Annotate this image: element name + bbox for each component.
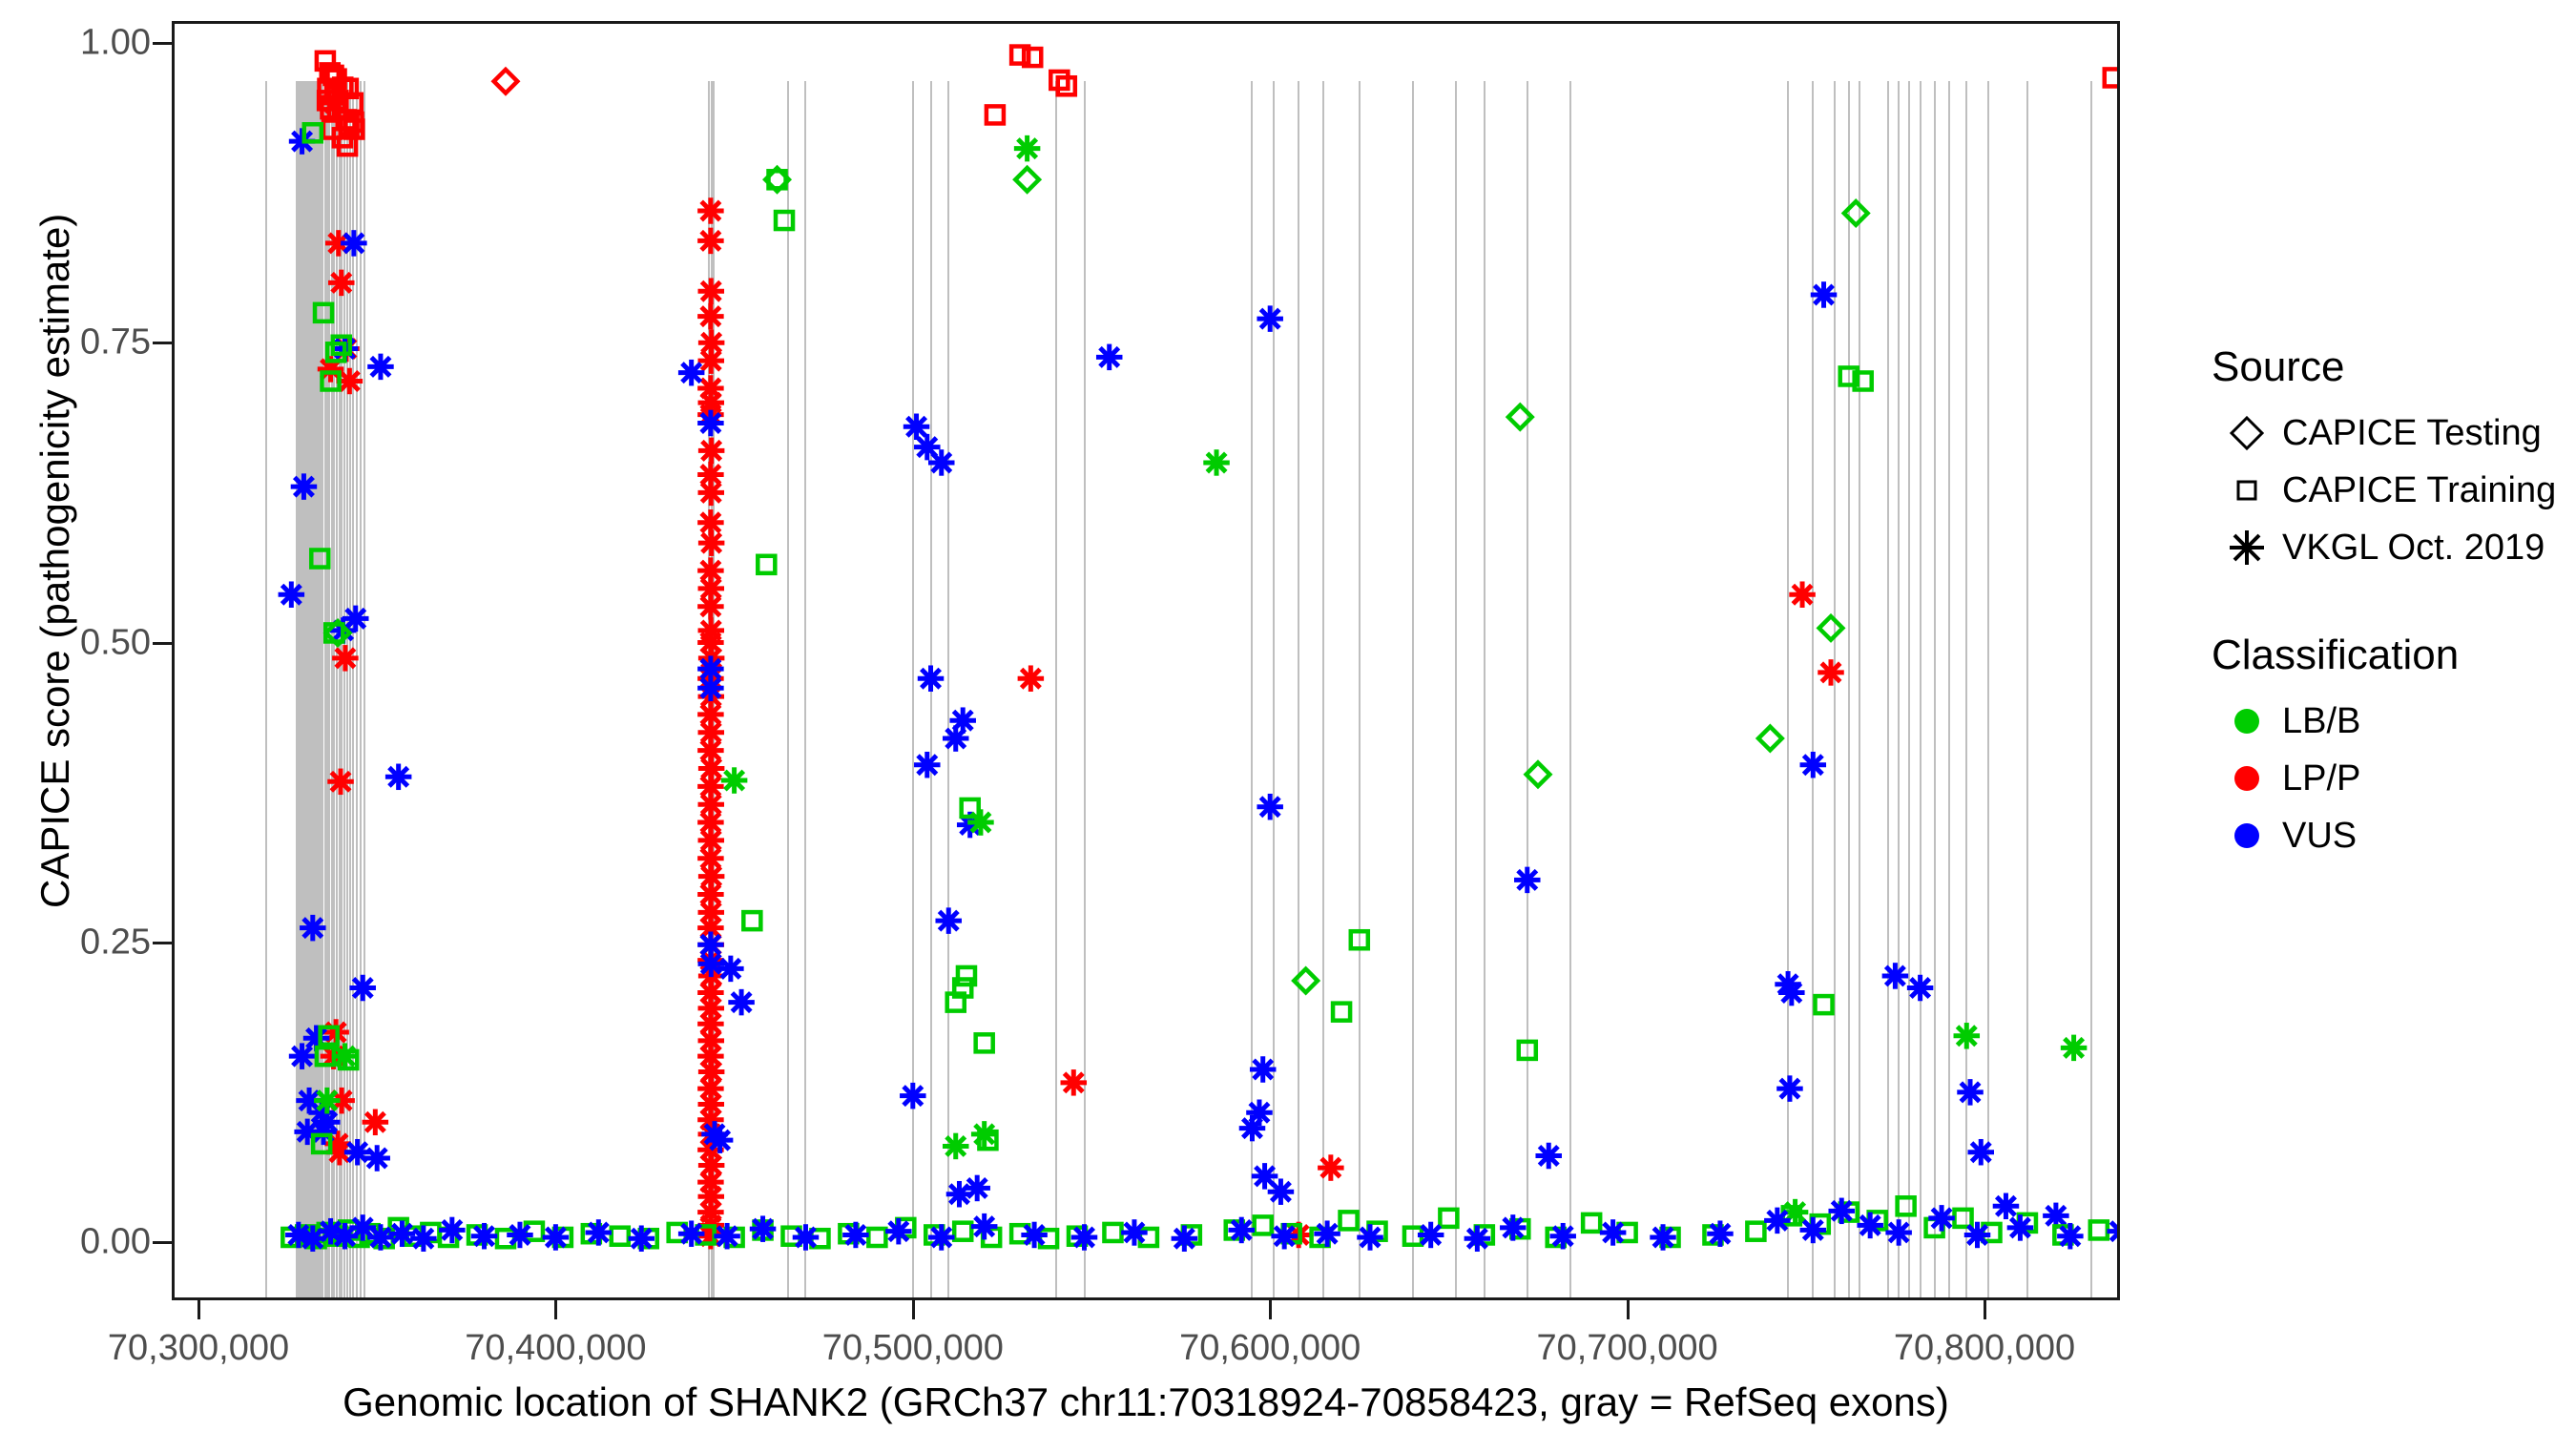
data-point [697, 197, 724, 224]
legend-item-label: CAPICE Testing [2282, 413, 2542, 454]
data-point [1071, 1224, 1098, 1251]
data-point [1096, 344, 1123, 371]
data-point [1351, 931, 1368, 948]
color-dot-icon [2234, 766, 2259, 791]
y-tick-mark [153, 942, 172, 944]
series-LB-B-square [304, 124, 2117, 1175]
data-point [322, 90, 348, 116]
data-point [1104, 1224, 1121, 1241]
data-point [885, 1218, 912, 1245]
data-point [1121, 1219, 1148, 1246]
legend-spacer [2212, 576, 2555, 632]
data-point [1333, 1004, 1350, 1021]
data-point [697, 228, 724, 255]
data-point [327, 769, 354, 796]
square-icon [2226, 469, 2268, 511]
x-tick-label: 70,600,000 [1179, 1328, 1361, 1369]
data-point [507, 1222, 533, 1249]
data-point [1357, 1224, 1383, 1251]
data-point [1021, 1222, 1048, 1249]
data-point [714, 1223, 740, 1250]
data-point [300, 915, 326, 942]
y-tick-label: 1.00 [80, 23, 151, 64]
data-point [1271, 1223, 1298, 1250]
x-tick-label: 70,800,000 [1894, 1328, 2075, 1369]
x-tick-mark [1984, 1300, 1986, 1319]
data-point [1340, 1212, 1358, 1229]
data-point [678, 360, 705, 386]
data-point [1268, 1178, 1295, 1205]
data-point [935, 907, 962, 934]
legend-key [2212, 462, 2282, 519]
plot-panel [172, 21, 2120, 1300]
data-point [721, 767, 748, 794]
data-point [1535, 1143, 1562, 1170]
data-point [842, 1222, 869, 1249]
data-point [1061, 1069, 1088, 1096]
data-point [1789, 581, 1816, 608]
data-point [698, 438, 725, 465]
data-point [385, 764, 412, 791]
series-VUS-asterisk [279, 128, 2117, 1229]
y-tick-mark [153, 342, 172, 344]
data-point [363, 1110, 389, 1136]
legend-key [2212, 807, 2282, 864]
data-point [1778, 980, 1805, 1006]
data-point [1819, 616, 1843, 640]
x-tick-label: 70,500,000 [822, 1328, 1004, 1369]
legend-item-label: LB/B [2282, 701, 2360, 742]
y-axis-title: CAPICE score (pathogenicity estimate) [32, 298, 78, 908]
data-point [314, 1088, 341, 1114]
data-point [928, 1224, 955, 1251]
data-point [1514, 867, 1541, 894]
y-tick-mark [153, 642, 172, 645]
data-point [2057, 1223, 2084, 1250]
data-point [1650, 1224, 1676, 1251]
legend-item-source[interactable]: VKGL Oct. 2019 [2212, 519, 2555, 576]
data-point [328, 270, 355, 297]
data-point [294, 1119, 321, 1146]
data-point [678, 1220, 705, 1247]
data-point [2090, 1221, 2108, 1238]
data-point [1172, 1225, 1198, 1252]
diamond-icon [2226, 412, 2268, 454]
data-point [971, 1121, 997, 1148]
data-point [1818, 659, 1844, 686]
legend-item-classification[interactable]: VUS [2212, 807, 2555, 864]
data-point [1257, 794, 1283, 820]
data-point [976, 1034, 993, 1051]
data-point [1255, 1216, 1272, 1234]
data-point [1764, 1208, 1791, 1234]
data-point [1816, 996, 1833, 1013]
data-point [1250, 1056, 1277, 1083]
data-point [1955, 1210, 1972, 1227]
data-point [1954, 1023, 1981, 1049]
color-dot-icon [2234, 823, 2259, 848]
data-point [315, 304, 332, 321]
y-tick-mark [153, 42, 172, 45]
data-point [697, 675, 724, 702]
data-point [1857, 1213, 1883, 1239]
data-point [1928, 1205, 1955, 1232]
legend-item-classification[interactable]: LB/B [2212, 693, 2555, 750]
data-point [629, 1225, 655, 1252]
data-point [612, 1228, 629, 1245]
data-point [918, 665, 945, 692]
x-tick-mark [554, 1300, 557, 1319]
data-point [1314, 1220, 1340, 1247]
data-point [1776, 1075, 1803, 1102]
y-tick-mark [153, 1241, 172, 1244]
data-point [900, 1083, 926, 1110]
data-point [1549, 1223, 1576, 1250]
data-point [1500, 1214, 1527, 1241]
data-point [758, 556, 775, 573]
data-point [332, 645, 359, 672]
legend-item-source[interactable]: CAPICE Testing [2212, 404, 2555, 462]
capice-scatter-figure: 0.000.250.500.751.00 CAPICE score (patho… [0, 0, 2576, 1431]
data-point [364, 1145, 390, 1172]
data-point [697, 410, 724, 437]
data-point [2105, 69, 2117, 86]
x-tick-label: 70,700,000 [1537, 1328, 1718, 1369]
data-point [1707, 1220, 1734, 1247]
data-point [2061, 1035, 2088, 1062]
data-point [698, 529, 725, 556]
data-point [1600, 1219, 1627, 1246]
legend-item-classification[interactable]: LP/P [2212, 750, 2555, 807]
data-point [1811, 281, 1838, 308]
x-tick-mark [1269, 1300, 1272, 1319]
data-point [1898, 1197, 1915, 1214]
plot-area [175, 24, 2117, 1297]
legend-item-label: LP/P [2282, 758, 2360, 799]
y-tick-label: 0.00 [80, 1222, 151, 1263]
data-point [439, 1217, 466, 1244]
data-point [946, 1181, 973, 1208]
legend-item-label: VKGL Oct. 2019 [2282, 528, 2545, 569]
data-point [698, 278, 725, 304]
data-point [868, 1229, 885, 1246]
x-tick-mark [912, 1300, 915, 1319]
color-dot-icon [2234, 709, 2259, 734]
data-point [279, 581, 305, 608]
data-point [717, 956, 744, 983]
data-point [1294, 969, 1318, 993]
data-point [697, 303, 724, 330]
data-point [1968, 1139, 1995, 1166]
x-axis-title: Genomic location of SHANK2 (GRCh37 chr11… [172, 1379, 2120, 1425]
y-tick-label: 0.25 [80, 922, 151, 963]
legend-key [2212, 750, 2282, 807]
data-point [1882, 963, 1909, 989]
data-point [1957, 1079, 1984, 1106]
data-point [1800, 752, 1827, 778]
legend-item-label: CAPICE Training [2282, 470, 2556, 511]
data-point [793, 1224, 820, 1251]
data-point [1465, 1225, 1491, 1252]
data-point [743, 912, 760, 929]
legend-key [2212, 519, 2282, 576]
series-LP-P-diamond [494, 70, 518, 93]
data-point [349, 975, 376, 1002]
data-point [697, 593, 724, 620]
data-point [410, 1225, 437, 1252]
data-point [928, 449, 955, 476]
data-point [967, 809, 994, 836]
data-point [750, 1215, 777, 1242]
data-point [954, 1223, 971, 1240]
legend-key [2212, 404, 2282, 462]
data-point [332, 1043, 359, 1069]
data-point [1440, 1210, 1457, 1227]
data-point [2007, 1214, 2034, 1241]
series-LB-B-diamond [326, 168, 1868, 992]
y-tick-label: 0.75 [80, 322, 151, 363]
data-point [698, 480, 725, 507]
x-tick-mark [197, 1300, 200, 1319]
data-point [1508, 405, 1532, 429]
data-point [1758, 727, 1782, 751]
data-point [341, 230, 367, 257]
data-point [1418, 1222, 1444, 1249]
data-point [1885, 1219, 1912, 1246]
data-point [586, 1219, 613, 1246]
data-point [367, 354, 394, 381]
data-point [291, 473, 318, 499]
legend-item-label: VUS [2282, 816, 2357, 857]
y-tick-label: 0.50 [80, 622, 151, 663]
data-point [914, 752, 941, 778]
data-point [1527, 762, 1550, 786]
data-point [1993, 1193, 2020, 1220]
data-point [543, 1224, 570, 1251]
data-point [971, 1213, 997, 1240]
data-point [471, 1223, 498, 1250]
x-tick-label: 70,400,000 [465, 1328, 646, 1369]
data-point [698, 951, 725, 978]
data-point [943, 725, 969, 752]
legend-item-source[interactable]: CAPICE Training [2212, 462, 2555, 519]
data-point [707, 1127, 734, 1153]
data-point [1519, 1042, 1536, 1059]
data-point [1844, 201, 1868, 225]
data-point [1239, 1115, 1266, 1142]
data-point [1318, 1154, 1344, 1181]
data-point [1964, 1222, 1991, 1249]
data-point [1800, 1217, 1827, 1244]
data-point [1583, 1214, 1600, 1232]
legend: Source CAPICE TestingCAPICE TrainingVKGL… [2212, 343, 2555, 864]
legend-source-rows: CAPICE TestingCAPICE TrainingVKGL Oct. 2… [2212, 404, 2555, 576]
x-tick-mark [1627, 1300, 1630, 1319]
data-point [289, 1043, 316, 1069]
data-point [1015, 168, 1039, 192]
x-tick-label: 70,300,000 [108, 1328, 289, 1369]
asterisk-icon [2226, 527, 2268, 569]
data-point [311, 550, 328, 567]
data-point [728, 989, 755, 1016]
data-point [1018, 665, 1045, 692]
series-LP-P-asterisk [318, 90, 1844, 1249]
data-point [943, 1133, 969, 1160]
legend-classification-rows: LB/BLP/PVUS [2212, 693, 2555, 864]
data-point [344, 1139, 371, 1166]
data-point [389, 1220, 416, 1247]
data-point [1014, 135, 1041, 162]
data-point [1257, 305, 1283, 332]
data-point [494, 70, 518, 93]
data-point [1828, 1198, 1855, 1225]
data-point [1203, 449, 1230, 476]
data-point [776, 212, 793, 229]
data-point [698, 347, 725, 374]
data-point [1228, 1217, 1255, 1244]
legend-classification-title: Classification [2212, 632, 2555, 679]
series-LP-P-square [317, 47, 2117, 156]
data-point [1907, 975, 1934, 1002]
data-point [1747, 1223, 1764, 1240]
data-point [987, 106, 1004, 123]
legend-source-title: Source [2212, 343, 2555, 391]
scatter-points-layer [175, 24, 2117, 1297]
legend-key [2212, 693, 2282, 750]
data-point [367, 1224, 394, 1251]
